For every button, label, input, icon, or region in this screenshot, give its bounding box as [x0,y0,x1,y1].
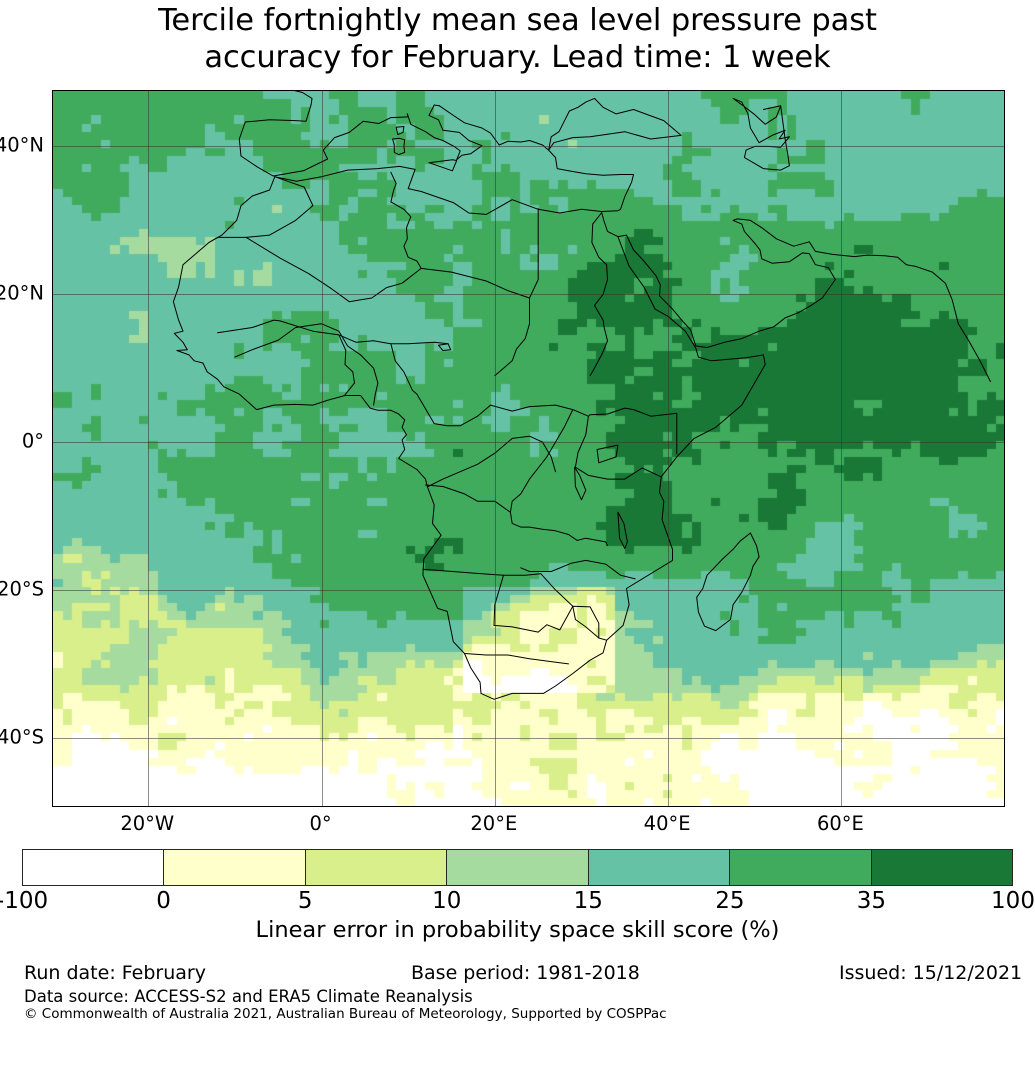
colorbar-segment-5 [729,850,870,885]
issued-date-text: Issued: 15/12/2021 [839,962,1022,984]
colorbar-label: Linear error in probability space skill … [0,917,1035,943]
chart-title: Tercile fortnightly mean sea level press… [0,2,1035,76]
colorbar-tick-5: 25 [715,888,744,914]
graticule-grid [53,91,1005,807]
gridline-horizontal [53,146,1005,147]
gridline-vertical [148,91,149,807]
colorbar-tick-4: 15 [574,888,603,914]
lat-tick-1: 20°N [0,282,44,305]
gridline-horizontal [53,738,1005,739]
gridline-horizontal [53,590,1005,591]
data-source-text: Data source: ACCESS-S2 and ERA5 Climate … [24,987,473,1006]
colorbar-segment-1 [163,850,304,885]
map-plot-area [52,90,1005,807]
lat-tick-4: 40°S [0,725,44,748]
gridline-vertical [322,91,323,807]
colorbar-tick-1: 0 [156,888,171,914]
colorbar-segment-4 [588,850,729,885]
footer-row: Run date: February Base period: 1981-201… [0,962,1035,984]
title-line-2: accuracy for February. Lead time: 1 week [0,39,1035,76]
base-period-text: Base period: 1981-2018 [411,962,640,984]
colorbar-segment-0 [23,850,163,885]
colorbar-segment-6 [871,850,1012,885]
colorbar [22,849,1013,886]
lon-tick-3: 40°E [644,812,691,835]
gridline-vertical [495,91,496,807]
gridline-vertical [841,91,842,807]
title-line-1: Tercile fortnightly mean sea level press… [0,2,1035,39]
colorbar-tick-6: 35 [857,888,886,914]
copyright-text: © Commonwealth of Australia 2021, Austra… [24,1006,667,1022]
gridline-vertical [668,91,669,807]
lon-tick-0: 20°W [120,812,174,835]
lat-tick-2: 0° [22,430,44,453]
colorbar-tick-3: 10 [432,888,461,914]
colorbar-tick-2: 5 [298,888,313,914]
colorbar-tick-7: 100 [991,888,1035,914]
colorbar-segment-2 [305,850,446,885]
colorbar-tick-0: -100 [0,888,48,914]
colorbar-segment-3 [446,850,587,885]
gridline-horizontal [53,294,1005,295]
run-date-text: Run date: February [24,962,206,984]
gridline-horizontal [53,442,1005,443]
lat-tick-3: 20°S [0,577,44,600]
lat-tick-0: 40°N [0,134,44,157]
lon-tick-1: 0° [309,812,331,835]
lon-tick-2: 20°E [470,812,517,835]
lon-tick-4: 60°E [817,812,864,835]
